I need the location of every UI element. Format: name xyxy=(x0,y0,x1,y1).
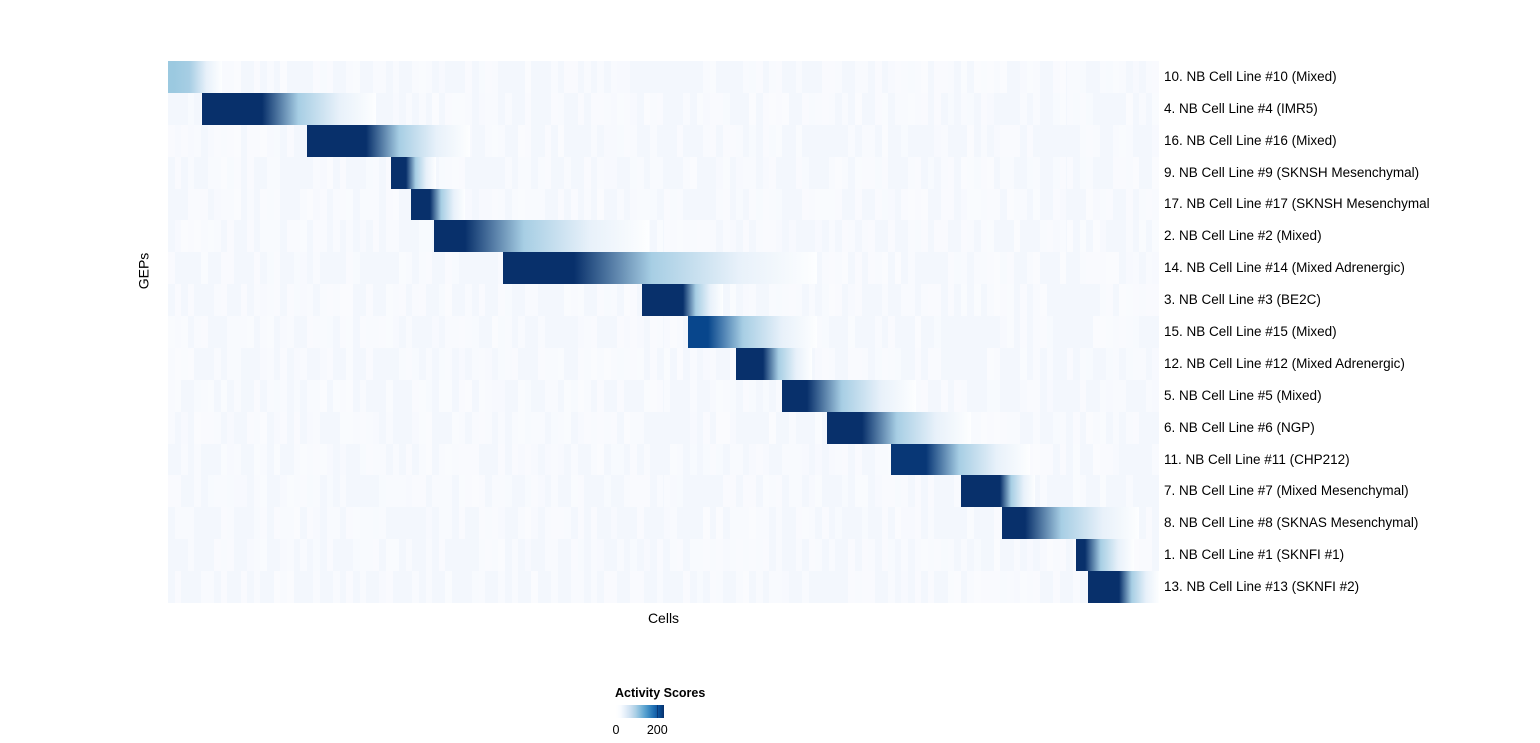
heatmap-cell-stripe xyxy=(637,571,644,603)
heatmap-cell-stripe xyxy=(941,380,948,412)
heatmap-cell-stripe xyxy=(888,61,895,93)
heatmap-cell-stripe xyxy=(584,189,591,221)
heatmap-cell-stripe xyxy=(743,380,750,412)
heatmap-cell-stripe xyxy=(664,189,671,221)
heatmap-cell-stripe xyxy=(1133,284,1140,316)
heatmap-cell-stripe xyxy=(763,539,770,571)
heatmap-cell-stripe xyxy=(703,93,710,125)
heatmap-cell-stripe xyxy=(644,189,651,221)
heatmap-cell-stripe xyxy=(1100,475,1107,507)
heatmap-cell-stripe xyxy=(412,571,419,603)
heatmap-cell-stripe xyxy=(498,475,505,507)
heatmap-cell-stripe xyxy=(809,539,816,571)
heatmap-cell-stripe xyxy=(175,571,182,603)
heatmap-cell-stripe xyxy=(763,189,770,221)
heatmap-cell-stripe xyxy=(994,571,1001,603)
heatmap-cell-stripe xyxy=(961,157,968,189)
heatmap-cell-stripe xyxy=(1060,157,1067,189)
heatmap-row xyxy=(168,93,1159,125)
heatmap-cell-stripe xyxy=(564,412,571,444)
heatmap-cell-stripe xyxy=(848,539,855,571)
heatmap-cell-stripe xyxy=(505,157,512,189)
heatmap-cell-stripe xyxy=(1100,380,1107,412)
heatmap-cell-stripe xyxy=(637,316,644,348)
heatmap-cell-stripe xyxy=(1080,252,1087,284)
heatmap-cell-stripe xyxy=(307,380,314,412)
heatmap-cell-stripe xyxy=(525,380,532,412)
heatmap-cell-stripe xyxy=(974,61,981,93)
heatmap-cell-stripe xyxy=(1093,252,1100,284)
heatmap-cell-stripe xyxy=(439,61,446,93)
heatmap-cell-stripe xyxy=(829,93,836,125)
heatmap-cell-stripe xyxy=(181,412,188,444)
heatmap-cell-stripe xyxy=(1020,93,1027,125)
heatmap-cell-stripe xyxy=(809,93,816,125)
heatmap-cell-stripe xyxy=(1139,284,1146,316)
heatmap-cell-stripe xyxy=(987,61,994,93)
heatmap-cell-stripe xyxy=(710,571,717,603)
heatmap-cell-stripe xyxy=(1060,252,1067,284)
heatmap-cell-stripe xyxy=(776,475,783,507)
heatmap-cell-stripe xyxy=(254,412,261,444)
heatmap-cell-stripe xyxy=(915,220,922,252)
heatmap-cell-stripe xyxy=(987,571,994,603)
heatmap-cell-stripe xyxy=(188,539,195,571)
heatmap-cell-stripe xyxy=(730,220,737,252)
heatmap-cell-stripe xyxy=(1133,61,1140,93)
heatmap-cell-stripe xyxy=(670,220,677,252)
heatmap-cell-stripe xyxy=(974,189,981,221)
heatmap-cell-stripe xyxy=(280,380,287,412)
heatmap-cell-stripe xyxy=(703,61,710,93)
heatmap-cell-stripe xyxy=(439,444,446,476)
heatmap-cell-stripe xyxy=(862,125,869,157)
heatmap-cell-stripe xyxy=(386,412,393,444)
heatmap-cell-stripe xyxy=(796,507,803,539)
heatmap-cell-stripe xyxy=(571,444,578,476)
heatmap-cell-stripe xyxy=(518,412,525,444)
heatmap-cell-stripe xyxy=(657,571,664,603)
heatmap-cell-stripe xyxy=(617,348,624,380)
heatmap-cell-stripe xyxy=(716,444,723,476)
heatmap-cell-stripe xyxy=(987,93,994,125)
heatmap-cell-stripe xyxy=(749,539,756,571)
heatmap-cell-stripe xyxy=(479,284,486,316)
heatmap-activity-gradient xyxy=(366,125,470,157)
heatmap-cell-stripe xyxy=(987,157,994,189)
heatmap-cell-stripe xyxy=(393,539,400,571)
heatmap-cell-stripe xyxy=(630,571,637,603)
heatmap-cell-stripe xyxy=(280,539,287,571)
heatmap-cell-stripe xyxy=(882,157,889,189)
row-label: 4. NB Cell Line #4 (IMR5) xyxy=(1164,102,1318,116)
heatmap-cell-stripe xyxy=(399,475,406,507)
heatmap-cell-stripe xyxy=(208,157,215,189)
heatmap-cell-stripe xyxy=(1100,189,1107,221)
heatmap-cell-stripe xyxy=(815,220,822,252)
heatmap-cell-stripe xyxy=(241,475,248,507)
heatmap-cell-stripe xyxy=(188,157,195,189)
heatmap-cell-stripe xyxy=(459,157,466,189)
heatmap-cell-stripe xyxy=(789,444,796,476)
heatmap-cell-stripe xyxy=(492,93,499,125)
heatmap-cell-stripe xyxy=(928,571,935,603)
heatmap-cell-stripe xyxy=(551,539,558,571)
heatmap-cell-stripe xyxy=(1053,93,1060,125)
heatmap-cell-stripe xyxy=(346,507,353,539)
heatmap-cell-stripe xyxy=(406,444,413,476)
heatmap-cell-stripe xyxy=(419,252,426,284)
heatmap-cell-stripe xyxy=(307,444,314,476)
heatmap-cell-stripe xyxy=(221,539,228,571)
heatmap-cell-stripe xyxy=(313,61,320,93)
heatmap-cell-stripe xyxy=(340,475,347,507)
heatmap-cell-stripe xyxy=(961,93,968,125)
heatmap-cell-stripe xyxy=(208,475,215,507)
heatmap-cell-stripe xyxy=(412,348,419,380)
heatmap-cell-stripe xyxy=(294,507,301,539)
heatmap-cell-stripe xyxy=(459,316,466,348)
heatmap-cell-stripe xyxy=(1139,220,1146,252)
heatmap-cell-stripe xyxy=(227,475,234,507)
heatmap-cell-stripe xyxy=(710,93,717,125)
heatmap-cell-stripe xyxy=(769,125,776,157)
heatmap-cell-stripe xyxy=(538,348,545,380)
heatmap-cell-stripe xyxy=(987,412,994,444)
heatmap-cell-stripe xyxy=(591,507,598,539)
heatmap-cell-stripe xyxy=(307,189,314,221)
heatmap-cell-stripe xyxy=(294,475,301,507)
heatmap-cell-stripe xyxy=(749,380,756,412)
heatmap-cell-stripe xyxy=(399,252,406,284)
heatmap-cell-stripe xyxy=(934,284,941,316)
heatmap-cell-stripe xyxy=(895,475,902,507)
heatmap-cell-stripe xyxy=(908,507,915,539)
heatmap-active-block xyxy=(827,412,862,444)
heatmap-cell-stripe xyxy=(888,475,895,507)
heatmap-cell-stripe xyxy=(525,284,532,316)
heatmap-cell-stripe xyxy=(1060,220,1067,252)
heatmap-cell-stripe xyxy=(710,444,717,476)
heatmap-cell-stripe xyxy=(505,348,512,380)
heatmap-cell-stripe xyxy=(1126,220,1133,252)
heatmap-cell-stripe xyxy=(426,444,433,476)
heatmap-cell-stripe xyxy=(571,539,578,571)
heatmap-cell-stripe xyxy=(419,412,426,444)
heatmap-cell-stripe xyxy=(657,539,664,571)
heatmap-activity-gradient xyxy=(683,284,723,316)
heatmap-cell-stripe xyxy=(1007,284,1014,316)
heatmap-activity-gradient xyxy=(465,220,648,252)
heatmap-cell-stripe xyxy=(320,316,327,348)
heatmap-cell-stripe xyxy=(498,125,505,157)
heatmap-cell-stripe xyxy=(611,61,618,93)
heatmap-cell-stripe xyxy=(505,93,512,125)
heatmap-cell-stripe xyxy=(1146,284,1153,316)
heatmap-cell-stripe xyxy=(294,220,301,252)
heatmap-cell-stripe xyxy=(419,380,426,412)
heatmap-cell-stripe xyxy=(492,539,499,571)
heatmap-cell-stripe xyxy=(452,157,459,189)
heatmap-cell-stripe xyxy=(809,475,816,507)
heatmap-cell-stripe xyxy=(254,252,261,284)
heatmap-cell-stripe xyxy=(214,157,221,189)
heatmap-cell-stripe xyxy=(194,444,201,476)
heatmap-cell-stripe xyxy=(432,475,439,507)
row-label: 2. NB Cell Line #2 (Mixed) xyxy=(1164,229,1322,243)
heatmap-cell-stripe xyxy=(908,93,915,125)
heatmap-cell-stripe xyxy=(915,475,922,507)
heatmap-cell-stripe xyxy=(862,348,869,380)
heatmap-cell-stripe xyxy=(1133,316,1140,348)
heatmap-cell-stripe xyxy=(855,189,862,221)
heatmap-cell-stripe xyxy=(584,348,591,380)
heatmap-cell-stripe xyxy=(776,220,783,252)
heatmap-cell-stripe xyxy=(1053,571,1060,603)
heatmap-cell-stripe xyxy=(1014,412,1021,444)
heatmap-cell-stripe xyxy=(591,571,598,603)
row-label: 10. NB Cell Line #10 (Mixed) xyxy=(1164,70,1337,84)
heatmap-cell-stripe xyxy=(961,284,968,316)
heatmap-cell-stripe xyxy=(1027,61,1034,93)
heatmap-cell-stripe xyxy=(743,571,750,603)
heatmap-cell-stripe xyxy=(445,157,452,189)
heatmap-cell-stripe xyxy=(624,475,631,507)
heatmap-cell-stripe xyxy=(1146,380,1153,412)
heatmap-cell-stripe xyxy=(1027,571,1034,603)
heatmap-cell-stripe xyxy=(1020,189,1027,221)
heatmap-cell-stripe xyxy=(994,284,1001,316)
heatmap-cell-stripe xyxy=(1040,316,1047,348)
heatmap-cell-stripe xyxy=(802,571,809,603)
heatmap-cell-stripe xyxy=(915,316,922,348)
heatmap-cell-stripe xyxy=(360,220,367,252)
heatmap-cell-stripe xyxy=(796,444,803,476)
heatmap-cell-stripe xyxy=(307,475,314,507)
heatmap-cell-stripe xyxy=(260,284,267,316)
heatmap-cell-stripe xyxy=(1086,157,1093,189)
heatmap-cell-stripe xyxy=(730,380,737,412)
heatmap-cell-stripe xyxy=(928,284,935,316)
heatmap-cell-stripe xyxy=(650,125,657,157)
heatmap-cell-stripe xyxy=(531,444,538,476)
heatmap-cell-stripe xyxy=(1133,348,1140,380)
heatmap-cell-stripe xyxy=(399,348,406,380)
heatmap-cell-stripe xyxy=(247,125,254,157)
heatmap-cell-stripe xyxy=(1060,412,1067,444)
heatmap-cell-stripe xyxy=(1033,412,1040,444)
heatmap-cell-stripe xyxy=(452,252,459,284)
colorbar-tick-label: 0 xyxy=(613,723,620,737)
heatmap-cell-stripe xyxy=(366,507,373,539)
heatmap-cell-stripe xyxy=(591,93,598,125)
heatmap-cell-stripe xyxy=(1040,284,1047,316)
heatmap-cell-stripe xyxy=(465,61,472,93)
heatmap-cell-stripe xyxy=(393,61,400,93)
heatmap-cell-stripe xyxy=(525,412,532,444)
heatmap-cell-stripe xyxy=(756,61,763,93)
heatmap-cell-stripe xyxy=(320,189,327,221)
heatmap-cell-stripe xyxy=(320,444,327,476)
heatmap-cell-stripe xyxy=(360,507,367,539)
heatmap-cell-stripe xyxy=(452,93,459,125)
heatmap-cell-stripe xyxy=(1126,157,1133,189)
heatmap-cell-stripe xyxy=(597,189,604,221)
heatmap-cell-stripe xyxy=(1106,61,1113,93)
heatmap-cell-stripe xyxy=(492,380,499,412)
heatmap-cell-stripe xyxy=(848,125,855,157)
heatmap-cell-stripe xyxy=(835,444,842,476)
heatmap-activity-gradient xyxy=(574,252,817,284)
heatmap-cell-stripe xyxy=(657,316,664,348)
heatmap-cell-stripe xyxy=(287,284,294,316)
row-label: 11. NB Cell Line #11 (CHP212) xyxy=(1164,453,1350,467)
heatmap-cell-stripe xyxy=(987,348,994,380)
row-label: 14. NB Cell Line #14 (Mixed Adrenergic) xyxy=(1164,261,1405,275)
heatmap-cell-stripe xyxy=(538,475,545,507)
heatmap-cell-stripe xyxy=(868,252,875,284)
heatmap-cell-stripe xyxy=(247,220,254,252)
heatmap-cell-stripe xyxy=(822,507,829,539)
heatmap-cell-stripe xyxy=(630,189,637,221)
heatmap-cell-stripe xyxy=(452,412,459,444)
heatmap-cell-stripe xyxy=(1033,61,1040,93)
heatmap-cell-stripe xyxy=(604,93,611,125)
heatmap-cell-stripe xyxy=(214,475,221,507)
heatmap-cell-stripe xyxy=(214,189,221,221)
heatmap-cell-stripe xyxy=(710,380,717,412)
heatmap-cell-stripe xyxy=(294,412,301,444)
heatmap-cell-stripe xyxy=(981,189,988,221)
row-label: 3. NB Cell Line #3 (BE2C) xyxy=(1164,293,1321,307)
heatmap-cell-stripe xyxy=(763,157,770,189)
heatmap-active-block xyxy=(503,252,574,284)
heatmap-cell-stripe xyxy=(591,444,598,476)
heatmap-cell-stripe xyxy=(571,284,578,316)
heatmap-cell-stripe xyxy=(802,93,809,125)
heatmap-cell-stripe xyxy=(366,284,373,316)
heatmap-cell-stripe xyxy=(703,412,710,444)
heatmap-cell-stripe xyxy=(690,157,697,189)
heatmap-cell-stripe xyxy=(901,475,908,507)
heatmap-cell-stripe xyxy=(234,380,241,412)
heatmap-cell-stripe xyxy=(538,157,545,189)
heatmap-row xyxy=(168,61,1159,93)
heatmap-cell-stripe xyxy=(294,252,301,284)
heatmap-cell-stripe xyxy=(591,316,598,348)
heatmap-cell-stripe xyxy=(901,284,908,316)
heatmap-cell-stripe xyxy=(327,61,334,93)
heatmap-cell-stripe xyxy=(485,125,492,157)
heatmap-cell-stripe xyxy=(227,316,234,348)
heatmap-cell-stripe xyxy=(961,539,968,571)
heatmap-cell-stripe xyxy=(875,189,882,221)
heatmap-cell-stripe xyxy=(294,284,301,316)
heatmap-cell-stripe xyxy=(809,284,816,316)
heatmap-cell-stripe xyxy=(915,157,922,189)
heatmap-cell-stripe xyxy=(637,507,644,539)
heatmap-cell-stripe xyxy=(875,157,882,189)
heatmap-cell-stripe xyxy=(465,316,472,348)
heatmap-cell-stripe xyxy=(525,157,532,189)
heatmap-cell-stripe xyxy=(571,475,578,507)
heatmap-cell-stripe xyxy=(201,189,208,221)
row-label: 16. NB Cell Line #16 (Mixed) xyxy=(1164,134,1337,148)
heatmap-cell-stripe xyxy=(928,157,935,189)
heatmap-cell-stripe xyxy=(716,571,723,603)
row-label: 1. NB Cell Line #1 (SKNFI #1) xyxy=(1164,548,1344,562)
heatmap-cell-stripe xyxy=(1007,316,1014,348)
heatmap-cell-stripe xyxy=(201,220,208,252)
heatmap-cell-stripe xyxy=(611,507,618,539)
heatmap-cell-stripe xyxy=(280,571,287,603)
heatmap-cell-stripe xyxy=(558,444,565,476)
heatmap-cell-stripe xyxy=(419,284,426,316)
heatmap-cell-stripe xyxy=(882,284,889,316)
heatmap-cell-stripe xyxy=(941,539,948,571)
heatmap-cell-stripe xyxy=(1073,475,1080,507)
heatmap-cell-stripe xyxy=(208,412,215,444)
heatmap-cell-stripe xyxy=(1126,252,1133,284)
heatmap-cell-stripe xyxy=(545,157,552,189)
heatmap-cell-stripe xyxy=(412,412,419,444)
heatmap-cell-stripe xyxy=(776,61,783,93)
heatmap-cell-stripe xyxy=(254,125,261,157)
heatmap-cell-stripe xyxy=(703,220,710,252)
heatmap-cell-stripe xyxy=(465,444,472,476)
heatmap-cell-stripe xyxy=(591,539,598,571)
heatmap-cell-stripe xyxy=(512,412,519,444)
heatmap-cell-stripe xyxy=(974,284,981,316)
heatmap-cell-stripe xyxy=(637,412,644,444)
heatmap-cell-stripe xyxy=(227,252,234,284)
heatmap-cell-stripe xyxy=(194,125,201,157)
heatmap-cell-stripe xyxy=(426,61,433,93)
heatmap-cell-stripe xyxy=(749,475,756,507)
heatmap-cell-stripe xyxy=(677,220,684,252)
heatmap-cell-stripe xyxy=(280,61,287,93)
heatmap-cell-stripe xyxy=(426,252,433,284)
heatmap-cell-stripe xyxy=(201,412,208,444)
heatmap-cell-stripe xyxy=(260,475,267,507)
heatmap-cell-stripe xyxy=(1014,539,1021,571)
heatmap-cell-stripe xyxy=(954,475,961,507)
heatmap-cell-stripe xyxy=(690,539,697,571)
heatmap-cell-stripe xyxy=(981,412,988,444)
x-axis-title: Cells xyxy=(168,610,1159,626)
heatmap-cell-stripe xyxy=(1086,412,1093,444)
heatmap-cell-stripe xyxy=(1146,539,1153,571)
heatmap-cell-stripe xyxy=(650,348,657,380)
heatmap-cell-stripe xyxy=(981,220,988,252)
heatmap-cell-stripe xyxy=(994,348,1001,380)
row-label: 17. NB Cell Line #17 (SKNSH Mesenchymal xyxy=(1164,197,1430,211)
heatmap-cell-stripe xyxy=(611,284,618,316)
heatmap-cell-stripe xyxy=(822,252,829,284)
heatmap-cell-stripe xyxy=(815,444,822,476)
colorbar-tick-label: 200 xyxy=(647,723,668,737)
heatmap-cell-stripe xyxy=(558,507,565,539)
heatmap-cell-stripe xyxy=(1080,125,1087,157)
heatmap-cell-stripe xyxy=(630,539,637,571)
heatmap-active-block xyxy=(688,316,708,348)
heatmap-cell-stripe xyxy=(981,252,988,284)
heatmap-cell-stripe xyxy=(545,125,552,157)
heatmap-cell-stripe xyxy=(624,348,631,380)
heatmap-cell-stripe xyxy=(313,412,320,444)
heatmap-cell-stripe xyxy=(300,284,307,316)
heatmap-cell-stripe xyxy=(789,475,796,507)
